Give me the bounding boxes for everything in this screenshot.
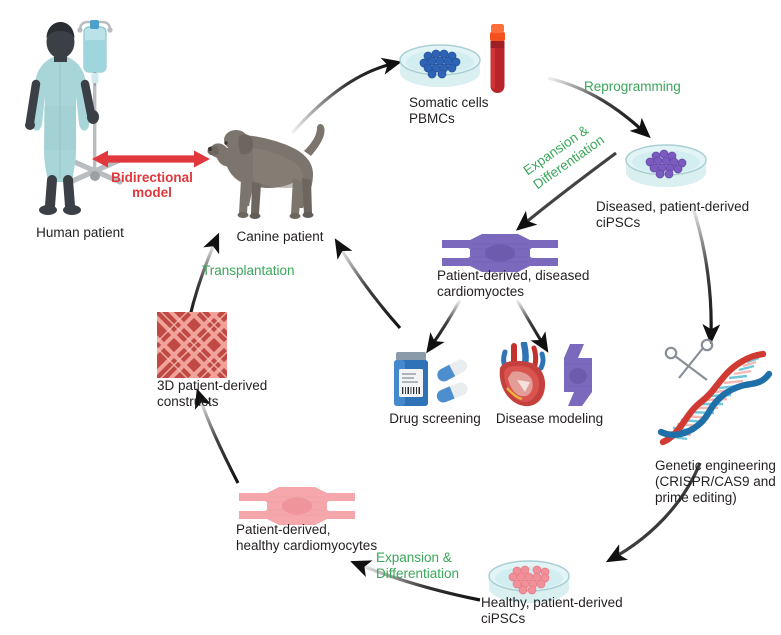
label-genetic-engineering: Genetic engineering (CRISPR/CAS9 and pri… [655,458,781,506]
bidirectional-arrow [92,148,210,170]
node-canine-patient [205,118,350,228]
label-diseased-cardiomyocytes: Patient-derived, diseased cardiomyoctes [437,268,642,300]
arrow-to-disease-modeling [517,300,543,344]
node-somatic-cells [398,20,518,100]
label-healthy-cipscs: Healthy, patient-derived ciPSCs [481,595,691,627]
node-drug-screening [390,350,480,408]
arrow-to-3d-constructs [200,398,238,483]
process-label-expansion-differentiation-top: Expansion & Differentiation [520,117,608,192]
petri-dish-purple-colonies-icon [620,132,712,194]
process-label-reprogramming: Reprogramming [584,79,681,95]
node-healthy-cardiomyocytes [237,485,357,527]
node-genetic-engineering [655,338,775,456]
node-diseased-cipscs [620,132,712,194]
label-drug-screening: Drug screening [375,411,495,427]
arrow-back-to-canine [340,247,400,328]
dna-helix-scissors-icon [655,338,775,456]
label-disease-modeling: Disease modeling [487,411,612,427]
label-canine-patient: Canine patient [200,229,360,245]
node-disease-modeling [492,342,607,410]
pink-cardiomyocyte-icon [237,485,357,527]
arrow-to-drug-screening [432,300,460,345]
label-human-patient: Human patient [0,225,160,241]
arrow-transplantation [189,242,215,320]
process-label-transplantation: Transplantation [202,263,295,279]
process-label-expansion-differentiation-bottom: Expansion & Differentiation [376,550,459,582]
label-somatic-cells: Somatic cells PBMCs [409,95,589,127]
label-3d-constructs: 3D patient-derived constructs [157,378,327,410]
bidirectional-label: Bidirectional model [93,170,211,200]
dog-icon [205,118,350,228]
label-healthy-cardiomyocytes: Patient-derived, healthy cardiomyocytes [236,522,416,554]
pill-bottle-capsules-icon [390,350,480,408]
double-headed-arrow-icon [92,148,210,170]
label-diseased-cipscs: Diseased, patient-derived ciPSCs [596,199,781,231]
petri-dish-blood-tube-icon [398,20,518,100]
heart-and-cardiomyocyte-icon [492,342,607,410]
node-3d-constructs [157,312,227,378]
figure-canvas: Human patient Bidirectional model [0,0,781,635]
3d-tissue-construct-icon [157,312,227,378]
